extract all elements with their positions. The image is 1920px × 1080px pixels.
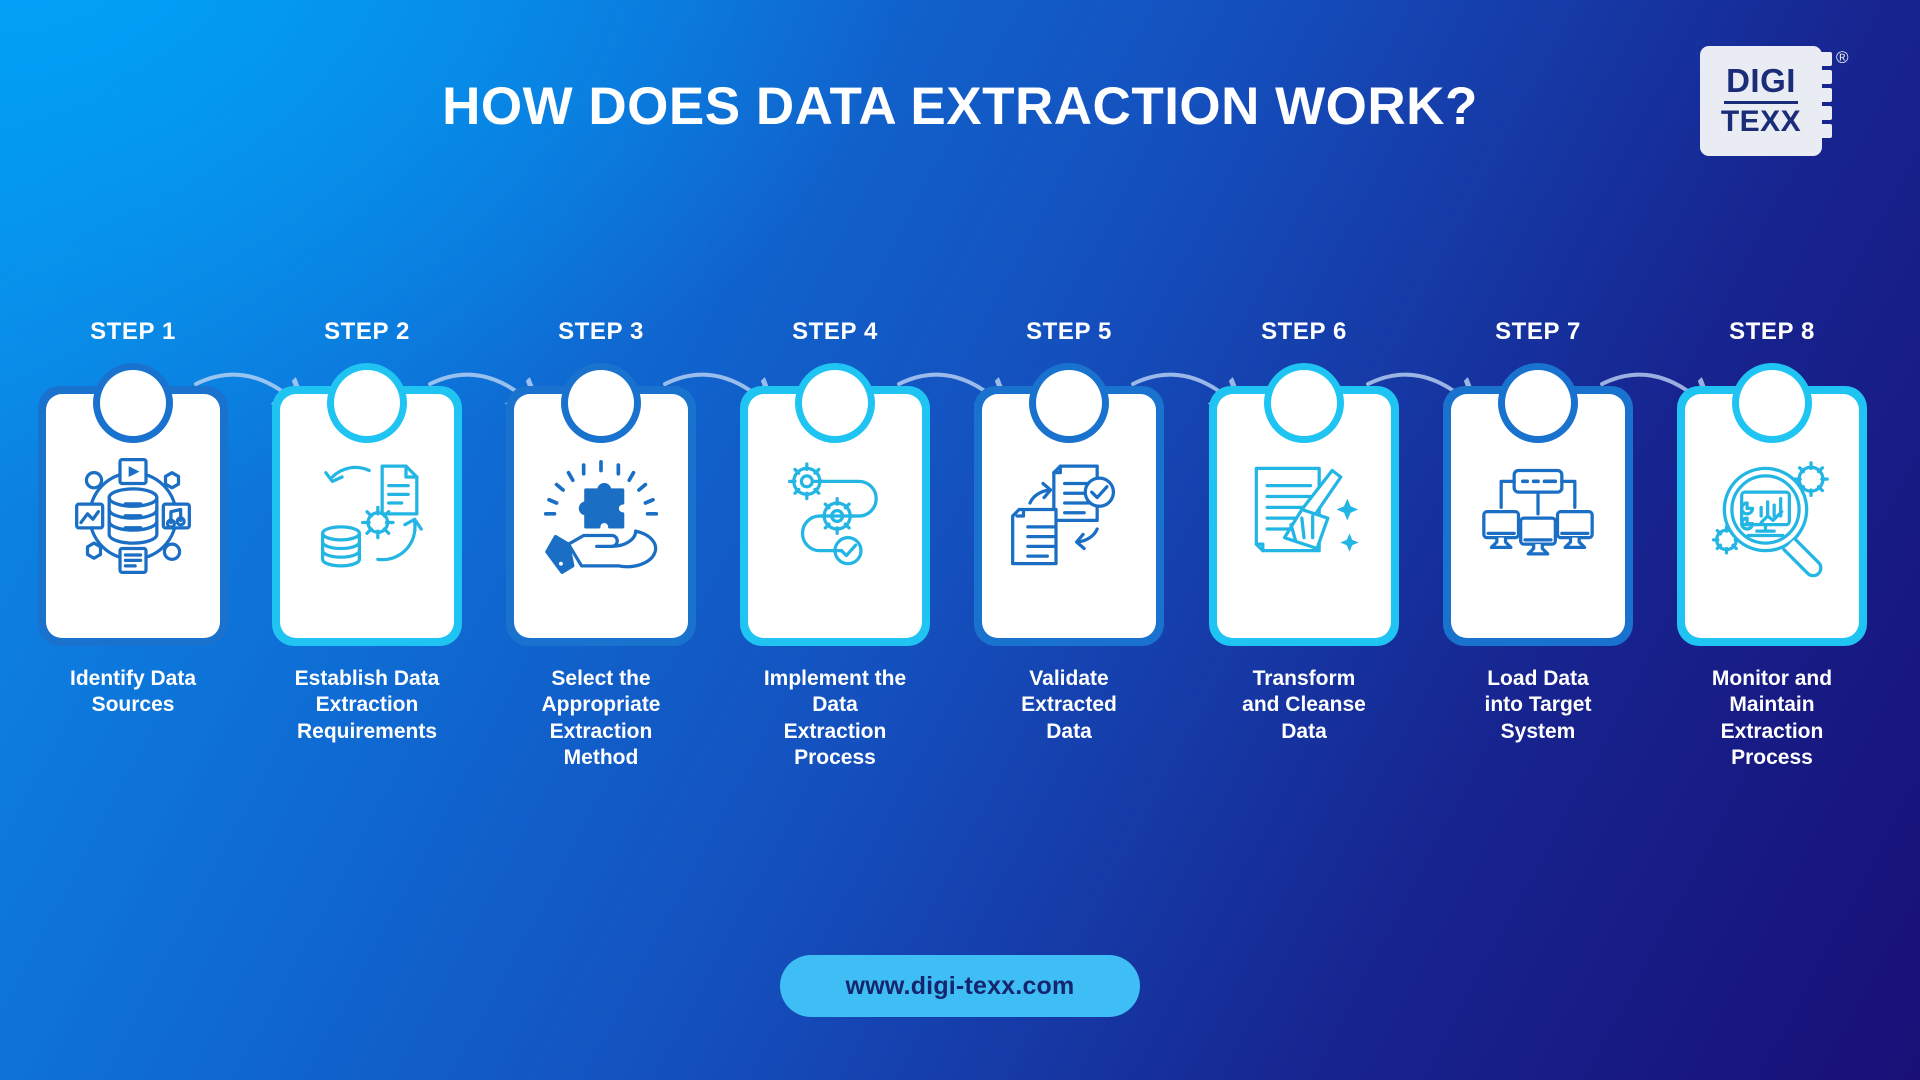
step-label-5: Validate Extracted Data	[969, 666, 1169, 745]
step-card-5[interactable]: STEP 5	[969, 318, 1169, 745]
card-notch-7	[1505, 370, 1571, 436]
step-card-7[interactable]: STEP 7	[1438, 318, 1638, 745]
step-label-3: Select the Appropriate Extraction Method	[501, 666, 701, 772]
step-card-zone-4	[735, 362, 935, 642]
card-notch-2	[334, 370, 400, 436]
document-broom-sparkle-icon	[1239, 451, 1369, 581]
card-notch-3	[568, 370, 634, 436]
step-label-6: Transform and Cleanse Data	[1204, 666, 1404, 745]
step-card-zone-8	[1672, 362, 1872, 642]
card-notch-5	[1036, 370, 1102, 436]
step-card-1[interactable]: STEP 1	[33, 318, 233, 719]
step-number-4: STEP 4	[735, 318, 935, 346]
step-card-6[interactable]: STEP 6 Transfo	[1204, 318, 1404, 745]
step-card-zone-3	[501, 362, 701, 642]
step-card-zone-6	[1204, 362, 1404, 642]
server-monitors-network-icon	[1473, 451, 1603, 581]
step-label-4: Implement the Data Extraction Process	[735, 666, 935, 772]
magnifier-dashboard-gears-icon	[1707, 451, 1837, 581]
step-label-8: Monitor and Maintain Extraction Process	[1672, 666, 1872, 772]
step-card-zone-5	[969, 362, 1169, 642]
card-notch-8	[1739, 370, 1805, 436]
step-number-2: STEP 2	[267, 318, 467, 346]
card-notch-4	[802, 370, 868, 436]
step-card-4[interactable]: STEP 4	[735, 318, 935, 772]
step-card-2[interactable]: STEP 2	[267, 318, 467, 745]
step-card-zone-2	[267, 362, 467, 642]
card-notch-1	[100, 370, 166, 436]
step-card-zone-1	[33, 362, 233, 642]
step-number-5: STEP 5	[969, 318, 1169, 346]
step-number-1: STEP 1	[33, 318, 233, 346]
step-number-7: STEP 7	[1438, 318, 1638, 346]
website-url-button[interactable]: www.digi-texx.com	[780, 955, 1140, 1017]
hand-holding-puzzle-piece-icon	[536, 451, 666, 581]
step-number-3: STEP 3	[501, 318, 701, 346]
step-card-8[interactable]: STEP 8	[1672, 318, 1872, 772]
card-notch-6	[1271, 370, 1337, 436]
gears-process-flow-check-icon	[770, 451, 900, 581]
step-number-8: STEP 8	[1672, 318, 1872, 346]
step-number-6: STEP 6	[1204, 318, 1404, 346]
step-card-3[interactable]: STEP 3	[501, 318, 701, 772]
step-label-2: Establish Data Extraction Requirements	[267, 666, 467, 745]
step-label-1: Identify Data Sources	[33, 666, 233, 719]
step-label-7: Load Data into Target System	[1438, 666, 1638, 745]
document-gear-database-cycle-icon	[302, 451, 432, 581]
documents-verified-exchange-icon	[1004, 451, 1134, 581]
data-sources-network-icon	[68, 451, 198, 581]
step-card-zone-7	[1438, 362, 1638, 642]
steps-row: STEP 1	[0, 0, 1920, 1080]
